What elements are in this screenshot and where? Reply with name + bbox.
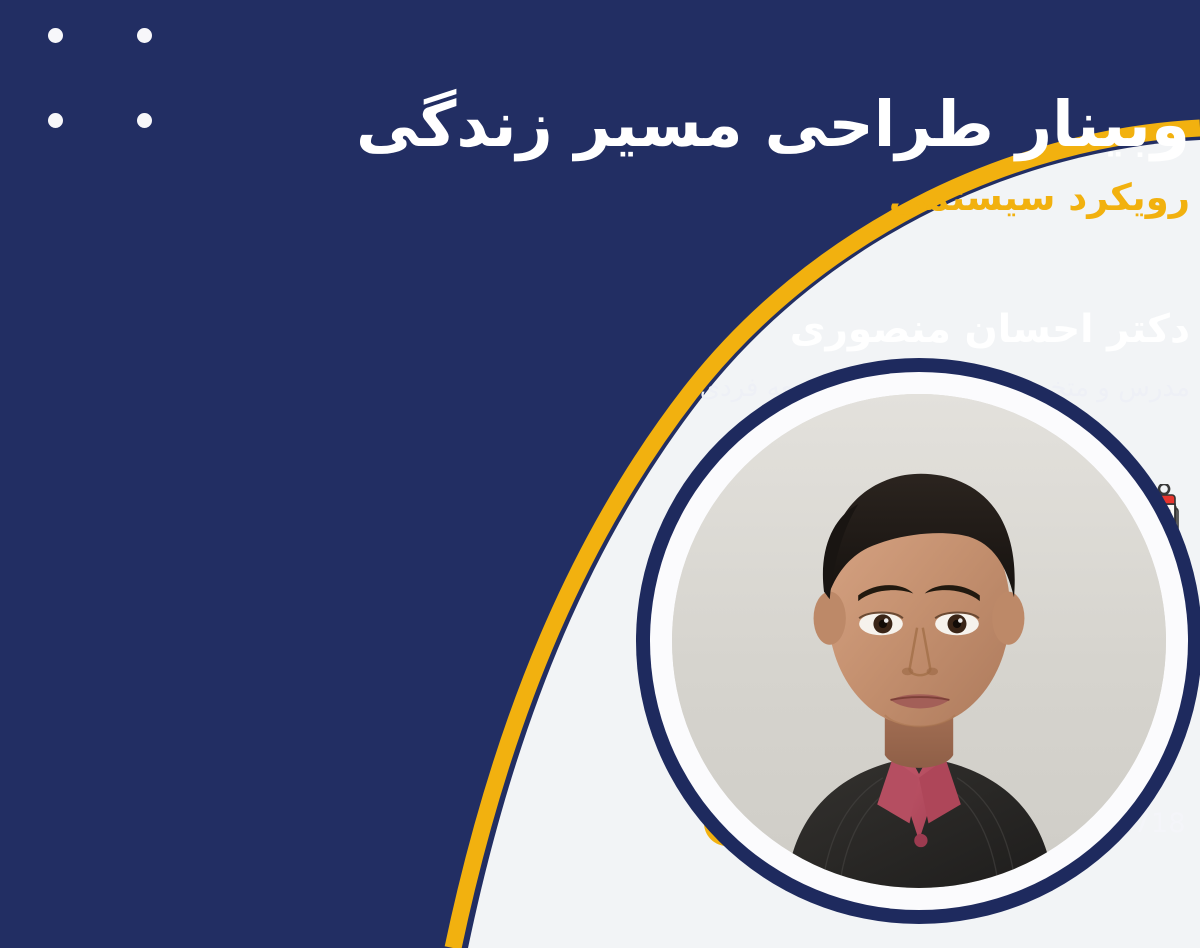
decorative-dot-grid — [32, 28, 152, 138]
portrait-ring — [636, 358, 1200, 924]
poster-title: وبینار طراحی مسیر زندگی — [330, 92, 1190, 158]
speaker-name: دکتر احسان منصوری — [630, 308, 1190, 353]
webinar-poster: وبینار طراحی مسیر زندگی رویکرد سیستمی دک… — [0, 0, 1200, 948]
portrait-ring-gap — [650, 372, 1188, 910]
poster-subtitle: رویکرد سیستمی — [790, 178, 1190, 219]
decor-dot — [48, 113, 63, 128]
decor-dot — [137, 113, 152, 128]
decor-dot — [137, 28, 152, 43]
speaker-photo — [672, 394, 1166, 888]
decor-dot — [48, 28, 63, 43]
